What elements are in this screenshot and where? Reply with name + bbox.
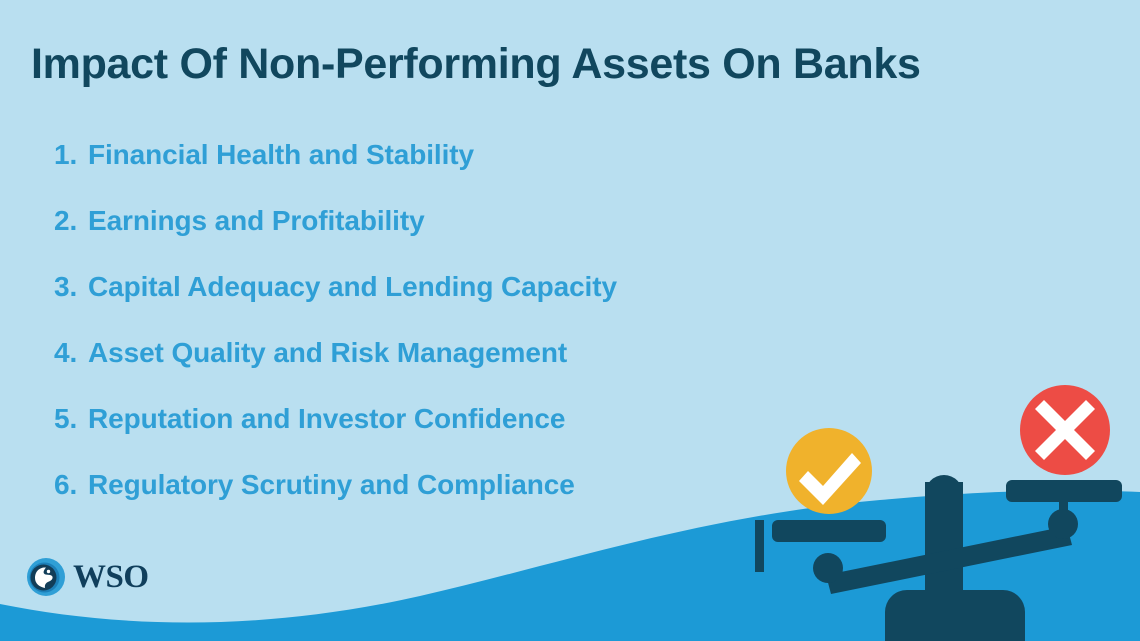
slide-canvas: Impact Of Non-Performing Assets On Banks… (0, 0, 1140, 641)
list-item: 4. Asset Quality and Risk Management (54, 320, 754, 386)
logo-wordmark: WSO (73, 557, 149, 597)
list-item-number: 1. (54, 122, 88, 188)
list-item-label: Capital Adequacy and Lending Capacity (88, 254, 617, 320)
list-item: 3. Capital Adequacy and Lending Capacity (54, 254, 754, 320)
list-item: 5. Reputation and Investor Confidence (54, 386, 754, 452)
list-item-number: 2. (54, 188, 88, 254)
globe-icon (26, 557, 66, 597)
left-hanger-stem (755, 520, 764, 572)
right-pan-pivot (1048, 509, 1078, 539)
list-item-label: Asset Quality and Risk Management (88, 320, 567, 386)
list-item-label: Regulatory Scrutiny and Compliance (88, 452, 575, 518)
check-circle-icon (786, 428, 872, 514)
left-pan-pivot (813, 553, 843, 583)
list-item-number: 5. (54, 386, 88, 452)
list-item-number: 4. (54, 320, 88, 386)
list-item-label: Reputation and Investor Confidence (88, 386, 565, 452)
wso-logo: WSO (26, 557, 149, 597)
scale-column (925, 482, 963, 614)
impact-list: 1. Financial Health and Stability 2. Ear… (54, 122, 754, 518)
list-item-label: Earnings and Profitability (88, 188, 425, 254)
list-item-number: 6. (54, 452, 88, 518)
list-item: 2. Earnings and Profitability (54, 188, 754, 254)
scale-fulcrum (925, 475, 963, 500)
list-item: 6. Regulatory Scrutiny and Compliance (54, 452, 754, 518)
list-item-number: 3. (54, 254, 88, 320)
page-title: Impact Of Non-Performing Assets On Banks (31, 38, 1031, 90)
list-item-label: Financial Health and Stability (88, 122, 474, 188)
list-item: 1. Financial Health and Stability (54, 122, 754, 188)
balance-scale-illustration (755, 370, 1140, 641)
left-pan (772, 520, 886, 542)
right-pan (1006, 480, 1122, 502)
